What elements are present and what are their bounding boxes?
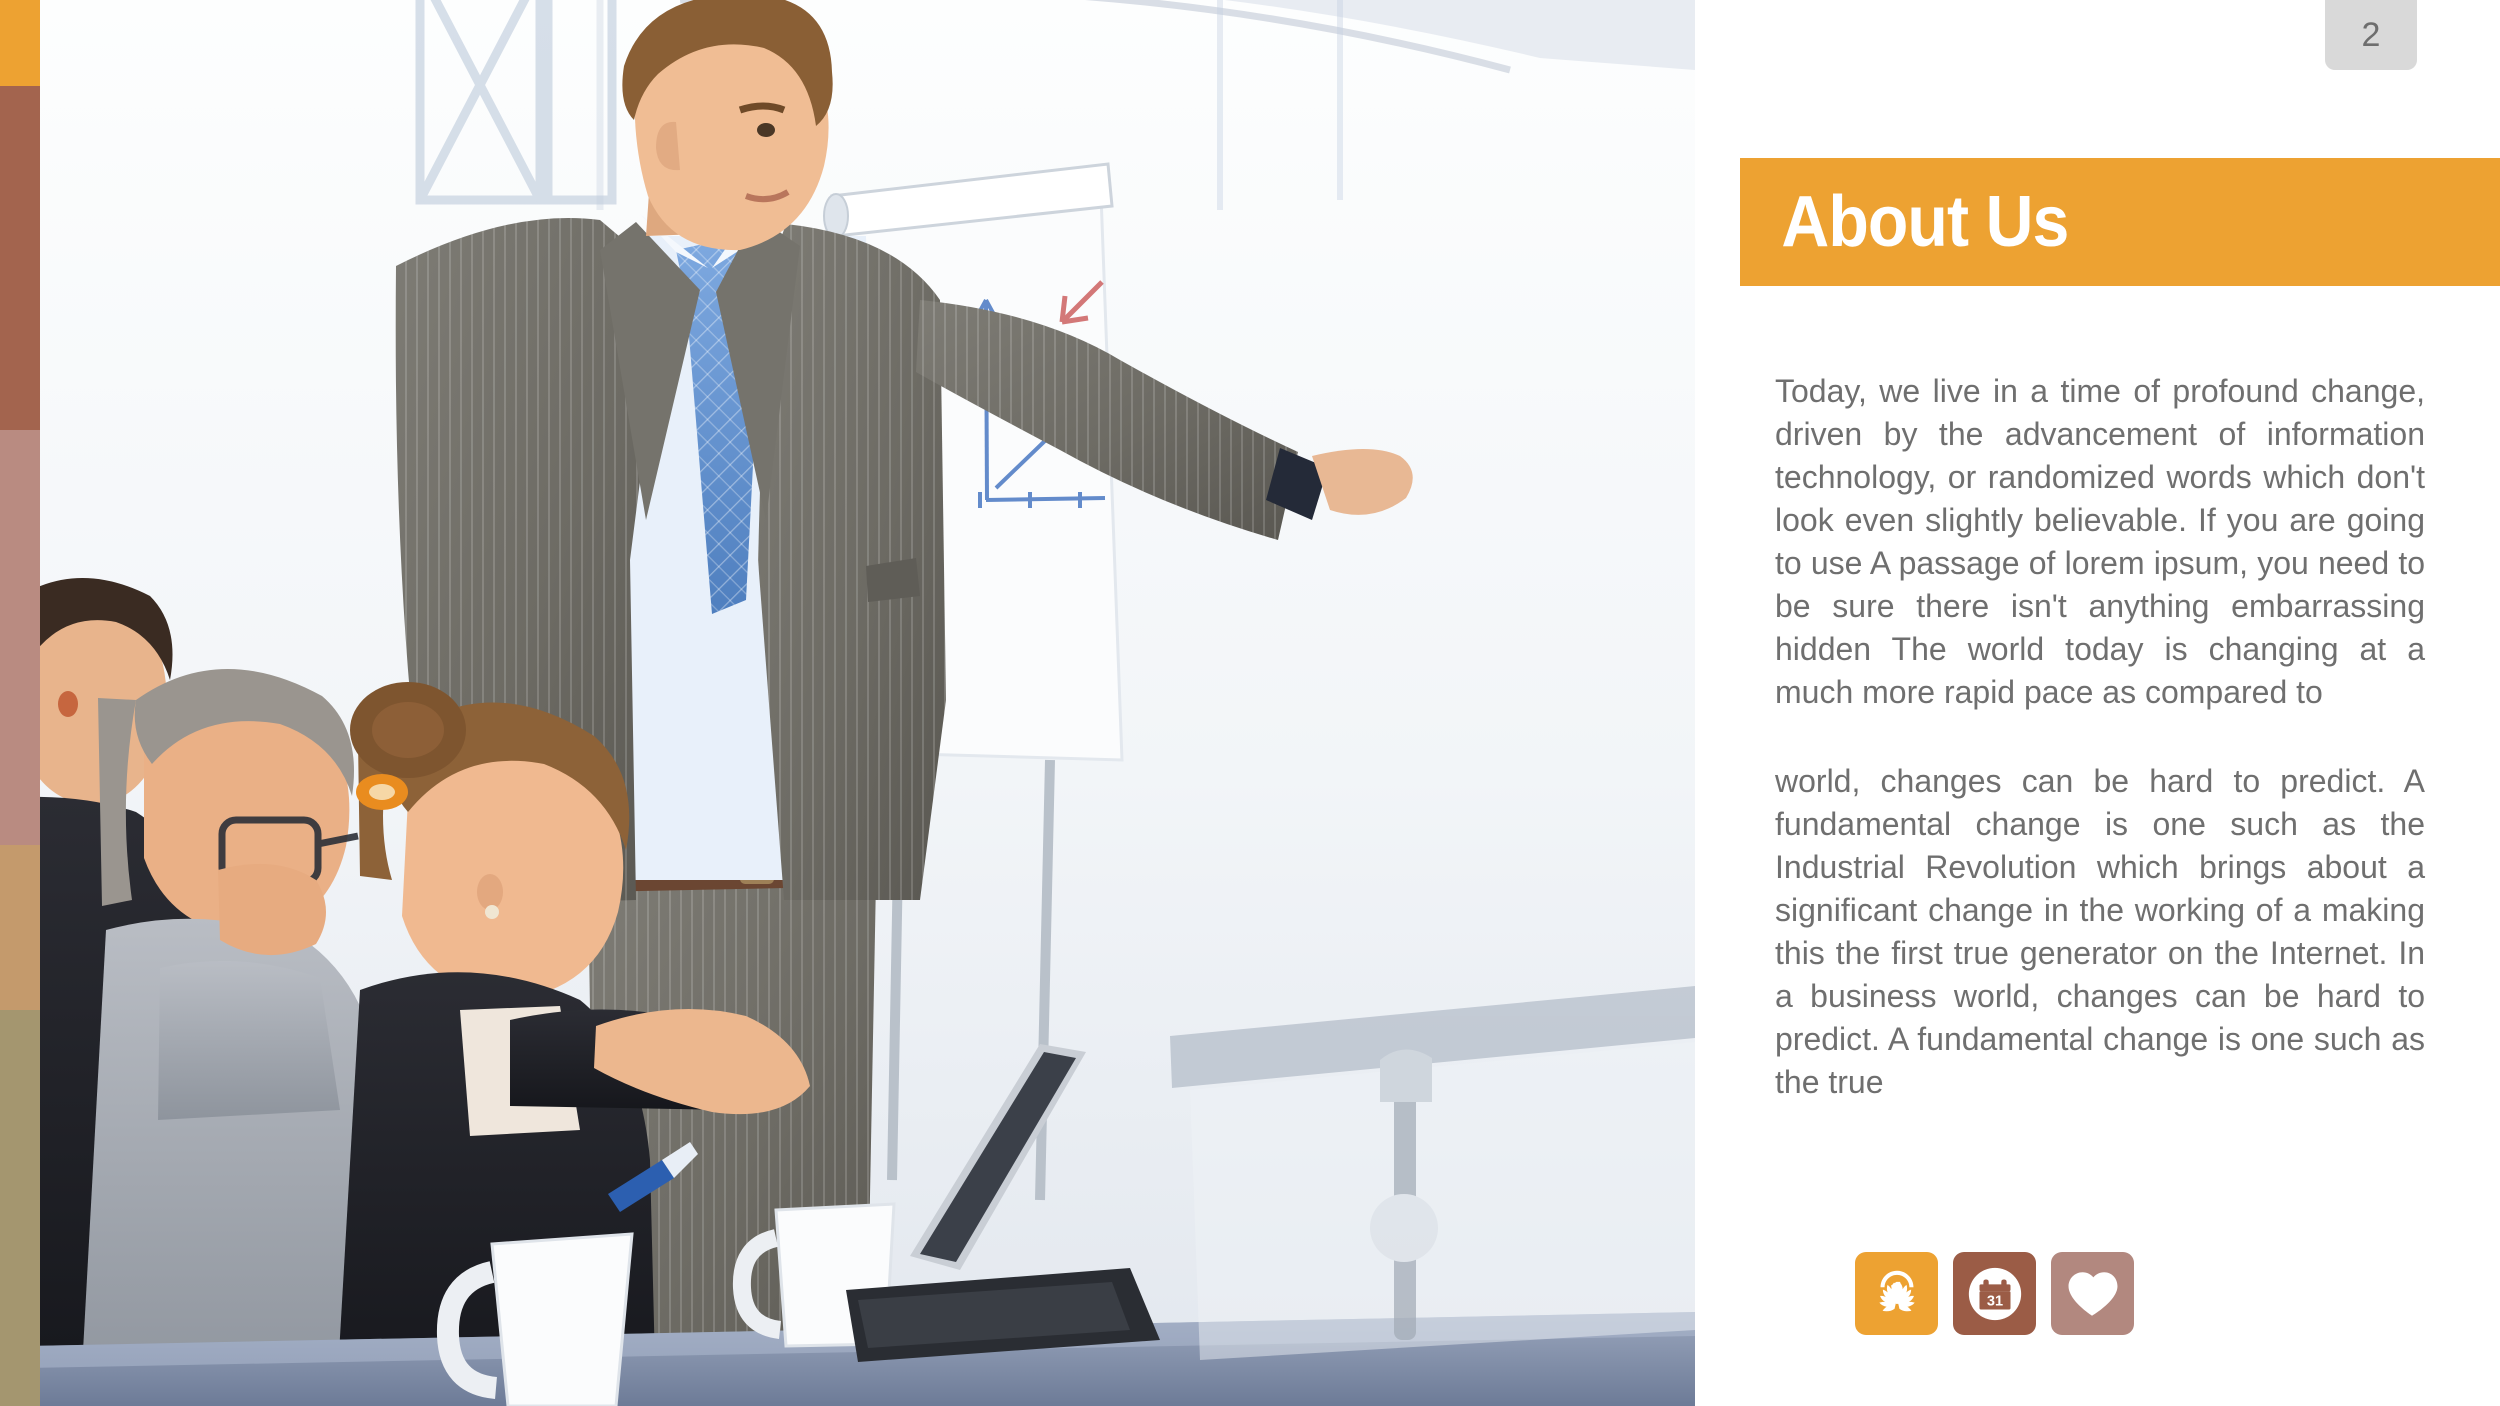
page-number-value: 2 xyxy=(2362,16,2381,55)
meeting-photo-illustration xyxy=(40,0,1695,1406)
award-laurel-tile[interactable] xyxy=(1855,1252,1938,1335)
calendar-icon: 31 xyxy=(1964,1263,2026,1325)
slide: 2 About Us Today, we live in a time of p… xyxy=(0,0,2500,1406)
swatch-orange xyxy=(0,0,40,86)
icon-tile-row: 31 xyxy=(1855,1252,2134,1335)
paragraph-1: Today, we live in a time of profound cha… xyxy=(1775,370,2425,714)
paragraph-2: world, changes can be hard to predict. A… xyxy=(1775,760,2425,1104)
meeting-photo xyxy=(40,0,1695,1406)
page-number-badge: 2 xyxy=(2325,0,2417,70)
award-laurel-icon xyxy=(1866,1263,1928,1325)
content-panel: 2 About Us Today, we live in a time of p… xyxy=(1695,0,2500,1406)
glass-railing xyxy=(1170,986,1695,1360)
section-title-banner: About Us xyxy=(1740,158,2500,286)
swatch-dusty-rose xyxy=(0,430,40,845)
body-copy: Today, we live in a time of profound cha… xyxy=(1775,370,2425,1104)
color-strip xyxy=(0,0,40,1406)
calendar-tile[interactable]: 31 xyxy=(1953,1252,2036,1335)
swatch-tan xyxy=(0,845,40,1010)
heart-icon xyxy=(2064,1265,2122,1323)
swatch-olive xyxy=(0,1010,40,1406)
calendar-day-label: 31 xyxy=(1986,1293,2002,1309)
swatch-brown xyxy=(0,86,40,430)
page-title: About Us xyxy=(1740,181,2068,263)
heart-tile[interactable] xyxy=(2051,1252,2134,1335)
attendee-man-glasses xyxy=(80,669,388,1406)
